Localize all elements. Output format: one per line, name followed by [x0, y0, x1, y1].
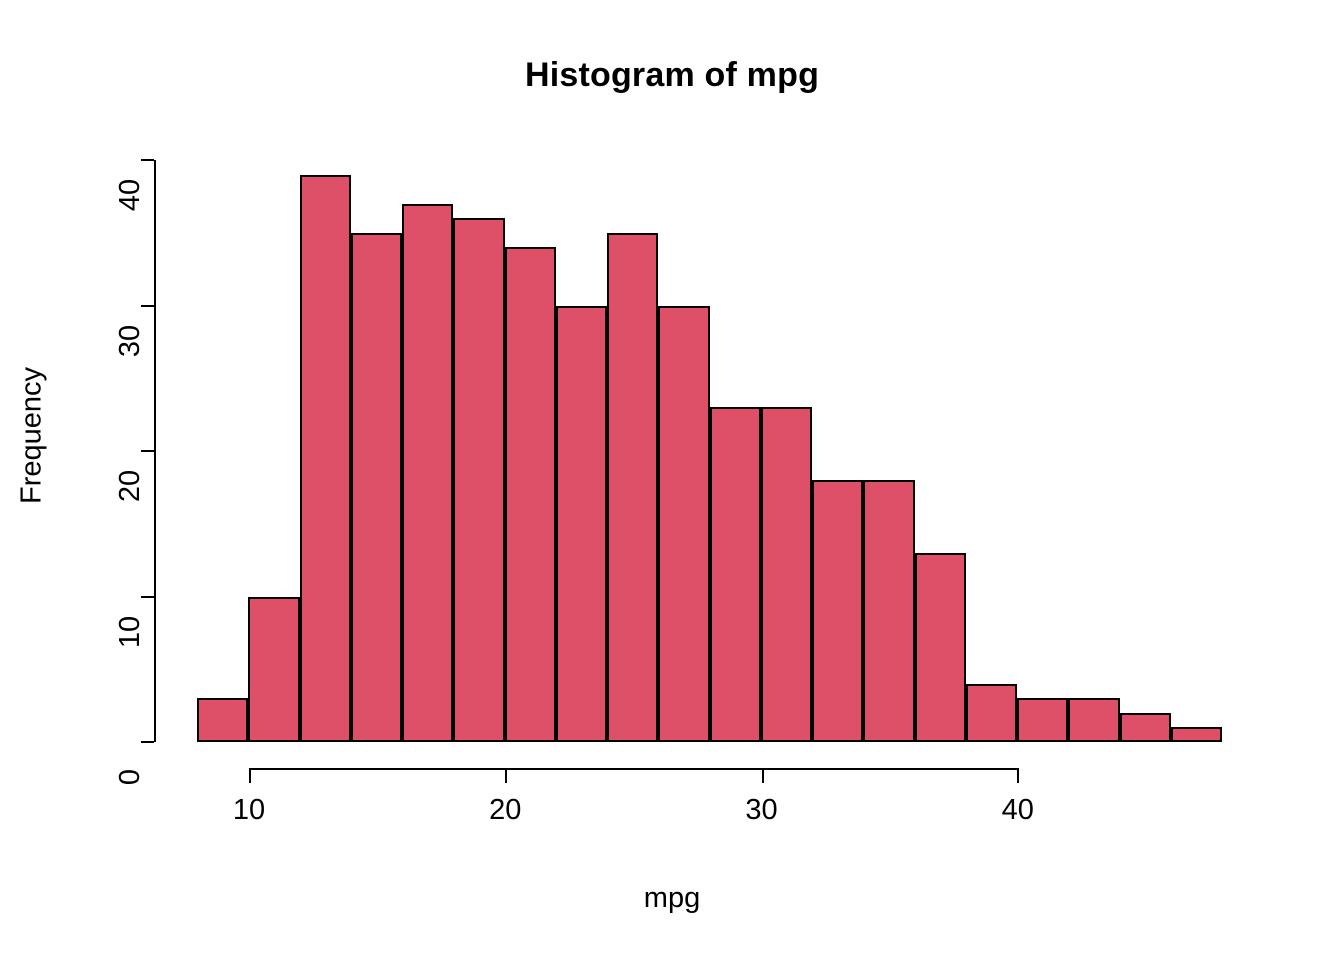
- histogram-bar: [402, 204, 453, 742]
- histogram-bar: [812, 480, 863, 742]
- histogram-bar: [1017, 698, 1068, 742]
- histogram-bar: [761, 407, 812, 742]
- x-axis-tick: [1017, 768, 1019, 783]
- histogram-bar: [300, 175, 351, 742]
- y-axis-tick-label: 20: [112, 451, 148, 521]
- histogram-bar: [607, 233, 658, 742]
- x-axis-tick: [505, 768, 507, 783]
- histogram-figure: Histogram of mpg 010203040 10203040 Freq…: [0, 0, 1344, 960]
- x-axis-title: mpg: [0, 882, 1344, 915]
- histogram-bar: [863, 480, 914, 742]
- y-axis-tick-label: 30: [112, 306, 148, 376]
- histogram-bar: [710, 407, 761, 742]
- y-axis-tick-label: 40: [112, 160, 148, 230]
- histogram-bar: [556, 306, 607, 743]
- x-axis-tick: [249, 768, 251, 783]
- histogram-bar: [248, 597, 299, 743]
- histogram-bar: [505, 247, 556, 742]
- x-axis-tick-label: 40: [1002, 794, 1034, 827]
- histogram-bar: [915, 553, 966, 742]
- x-axis-tick-label: 30: [745, 794, 777, 827]
- histogram-bar: [1120, 713, 1171, 742]
- y-axis-tick-label: 10: [112, 597, 148, 667]
- chart-title: Histogram of mpg: [0, 56, 1344, 95]
- x-axis-tick: [762, 768, 764, 783]
- y-axis-title: Frequency: [16, 336, 49, 536]
- histogram-bar: [351, 233, 402, 742]
- histogram-bar: [1068, 698, 1119, 742]
- x-axis-tick-label: 10: [233, 794, 265, 827]
- x-axis-tick-label: 20: [489, 794, 521, 827]
- histogram-bar: [453, 218, 504, 742]
- histogram-bar: [658, 306, 709, 743]
- histogram-bar: [1171, 727, 1222, 742]
- y-axis-tick-label: 0: [112, 742, 148, 812]
- y-axis-line: 010203040: [154, 160, 156, 742]
- plot-area: [197, 160, 1222, 742]
- histogram-bar: [197, 698, 248, 742]
- x-axis-line: 10203040: [249, 768, 1018, 770]
- histogram-bar: [966, 684, 1017, 742]
